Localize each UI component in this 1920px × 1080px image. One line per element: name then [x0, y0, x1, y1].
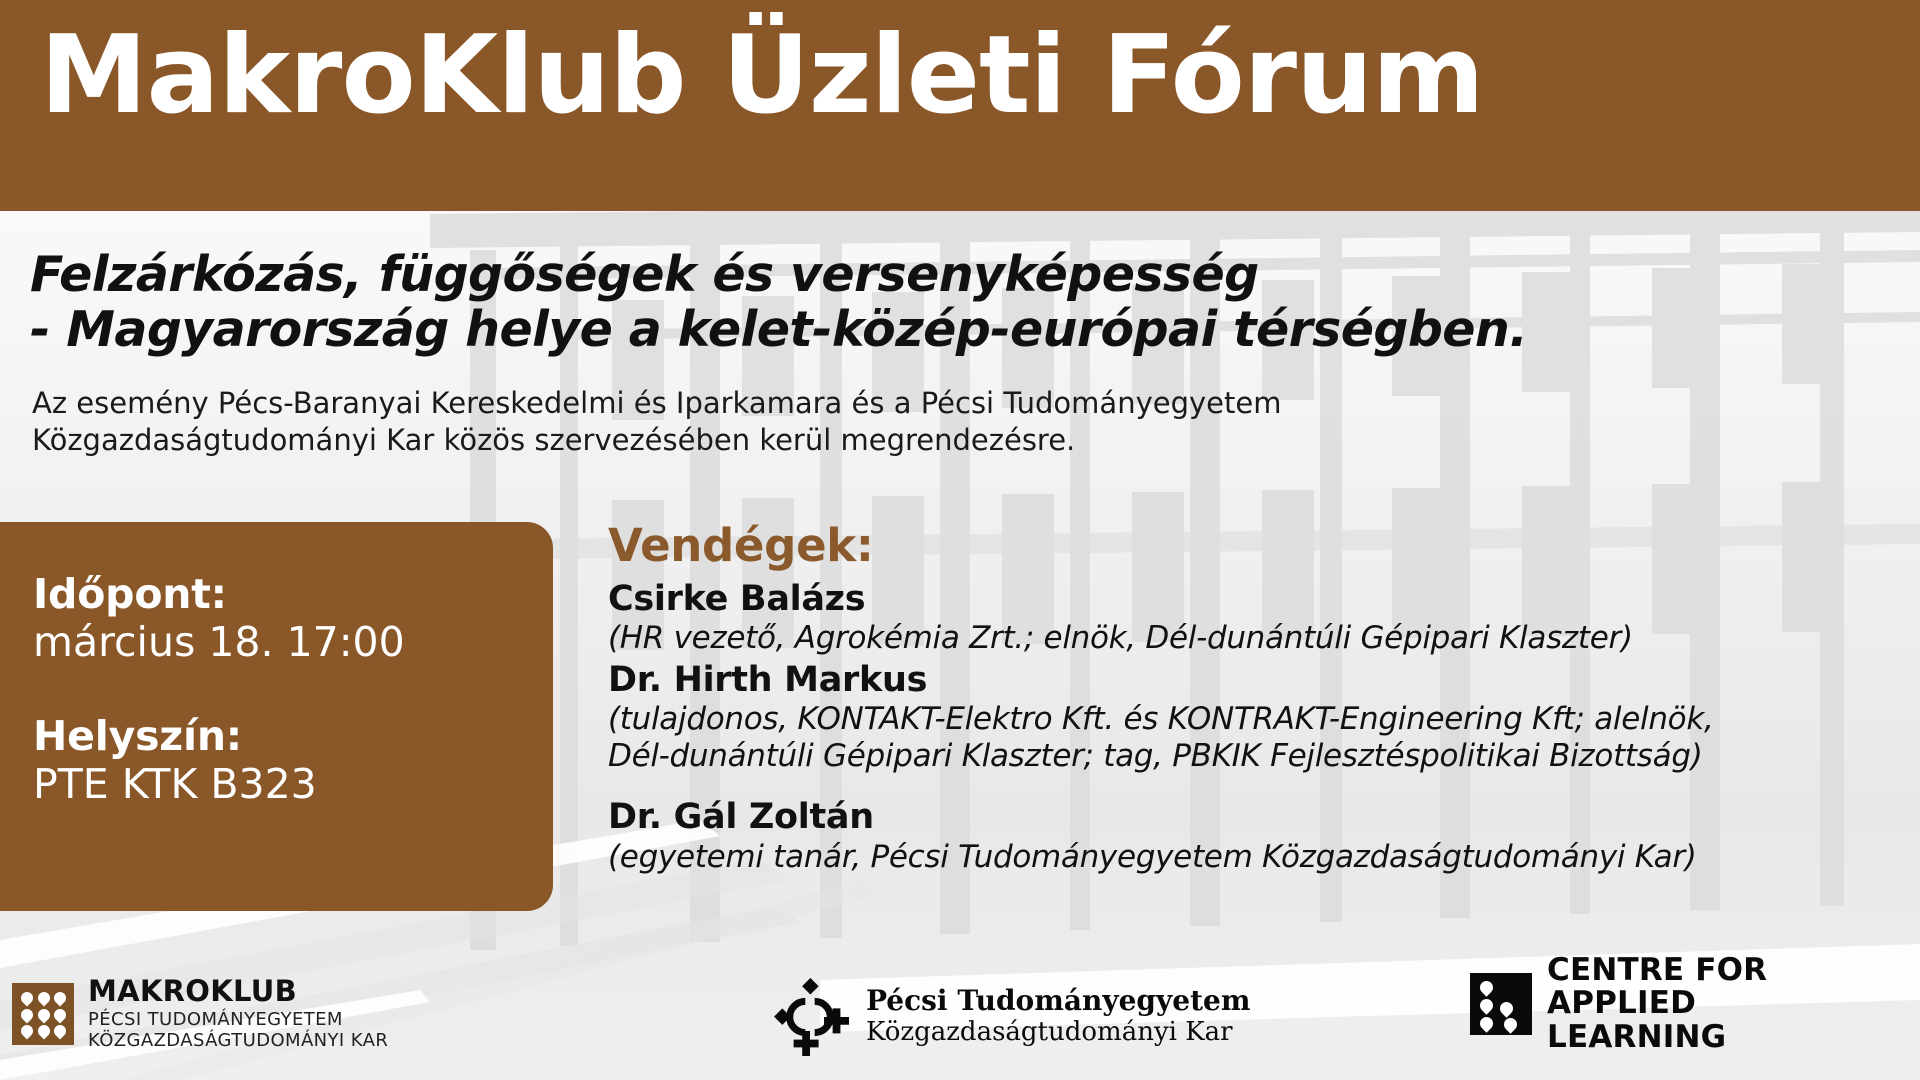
- pte-ktk-logo: Pécsi Tudományegyetem Közgazdaságtudomán…: [770, 978, 1250, 1056]
- poster-subtitle: Felzárkózás, függőségek és versenyképess…: [30, 248, 1630, 358]
- makroklub-logo: MAKROKLUB PÉCSI TUDOMÁNYEGYETEM KÖZGAZDA…: [12, 977, 388, 1052]
- guest-entry: Dr. Gál Zoltán (egyetemi tanár, Pécsi Tu…: [608, 796, 1908, 875]
- centre-for-applied-learning-logo: CENTRE FOR APPLIED LEARNING: [1470, 954, 1920, 1054]
- makroklub-title: MAKROKLUB: [88, 977, 388, 1006]
- guest-name: Dr. Hirth Markus: [608, 659, 1908, 702]
- makroklub-subtitle: PÉCSI TUDOMÁNYEGYETEM KÖZGAZDASÁGTUDOMÁN…: [88, 1009, 388, 1052]
- makroklub-logo-text: MAKROKLUB PÉCSI TUDOMÁNYEGYETEM KÖZGAZDA…: [88, 977, 388, 1052]
- event-info-card: Időpont: március 18. 17:00 Helyszín: PTE…: [0, 522, 553, 911]
- poster-lead-paragraph: Az esemény Pécs-Baranyai Kereskedelmi és…: [32, 385, 1432, 458]
- pte-subtitle: Közgazdaságtudományi Kar: [866, 1018, 1250, 1048]
- guest-role: (tulajdonos, KONTAKT-Elektro Kft. és KON…: [608, 701, 1908, 774]
- guest-role: (egyetemi tanár, Pécsi Tudományegyetem K…: [608, 839, 1908, 875]
- guest-role: (HR vezető, Agrokémia Zrt.; elnök, Dél-d…: [608, 620, 1908, 656]
- guest-entry: Dr. Hirth Markus (tulajdonos, KONTAKT-El…: [608, 659, 1908, 774]
- venue-label: Helyszín:: [33, 712, 553, 760]
- guest-name: Dr. Gál Zoltán: [608, 796, 1908, 839]
- subtitle-line-2: - Magyarország helye a kelet-közép-európ…: [30, 303, 1630, 358]
- guests-heading: Vendégek:: [608, 520, 1908, 572]
- date-value: március 18. 17:00: [33, 618, 553, 667]
- event-poster: MakroKlub Üzleti Fórum Felzárkózás, függ…: [0, 0, 1920, 1080]
- guest-name: Csirke Balázs: [608, 578, 1908, 621]
- cal-dots-mark-icon: [1470, 973, 1532, 1035]
- makroklub-subtitle-line-1: PÉCSI TUDOMÁNYEGYETEM: [88, 1009, 388, 1031]
- footer-logo-bar: MAKROKLUB PÉCSI TUDOMÁNYEGYETEM KÖZGAZDA…: [0, 940, 1920, 1080]
- guest-role-line: (HR vezető, Agrokémia Zrt.; elnök, Dél-d…: [608, 620, 1908, 656]
- cal-line-1: CENTRE FOR APPLIED: [1547, 954, 1920, 1021]
- lead-line-2: Közgazdaságtudományi Kar közös szervezés…: [32, 422, 1432, 459]
- poster-header-band: MakroKlub Üzleti Fórum: [0, 0, 1920, 211]
- cal-line-2: LEARNING: [1547, 1021, 1920, 1054]
- guests-section: Vendégek: Csirke Balázs (HR vezető, Agro…: [608, 520, 1908, 877]
- cal-logo-text: CENTRE FOR APPLIED LEARNING: [1547, 954, 1920, 1054]
- makroklub-dots-mark-icon: [12, 983, 74, 1045]
- pte-title: Pécsi Tudományegyetem: [866, 986, 1250, 1017]
- lead-line-1: Az esemény Pécs-Baranyai Kereskedelmi és…: [32, 385, 1432, 422]
- guest-role-line: (egyetemi tanár, Pécsi Tudományegyetem K…: [608, 839, 1908, 875]
- page-title: MakroKlub Üzleti Fórum: [40, 22, 1484, 130]
- venue-value: PTE KTK B323: [33, 760, 553, 809]
- info-card-spacer: [33, 668, 553, 712]
- subtitle-line-1: Felzárkózás, függőségek és versenyképess…: [30, 246, 1259, 303]
- pte-ornament-mark-icon: [770, 978, 850, 1056]
- date-label: Időpont:: [33, 570, 553, 618]
- guest-role-line: Dél-dunántúli Gépipari Klaszter; tag, PB…: [608, 738, 1908, 774]
- guest-role-line: (tulajdonos, KONTAKT-Elektro Kft. és KON…: [608, 701, 1908, 737]
- guest-entry: Csirke Balázs (HR vezető, Agrokémia Zrt.…: [608, 578, 1908, 657]
- makroklub-subtitle-line-2: KÖZGAZDASÁGTUDOMÁNYI KAR: [88, 1030, 388, 1052]
- pte-logo-text: Pécsi Tudományegyetem Közgazdaságtudomán…: [866, 986, 1250, 1049]
